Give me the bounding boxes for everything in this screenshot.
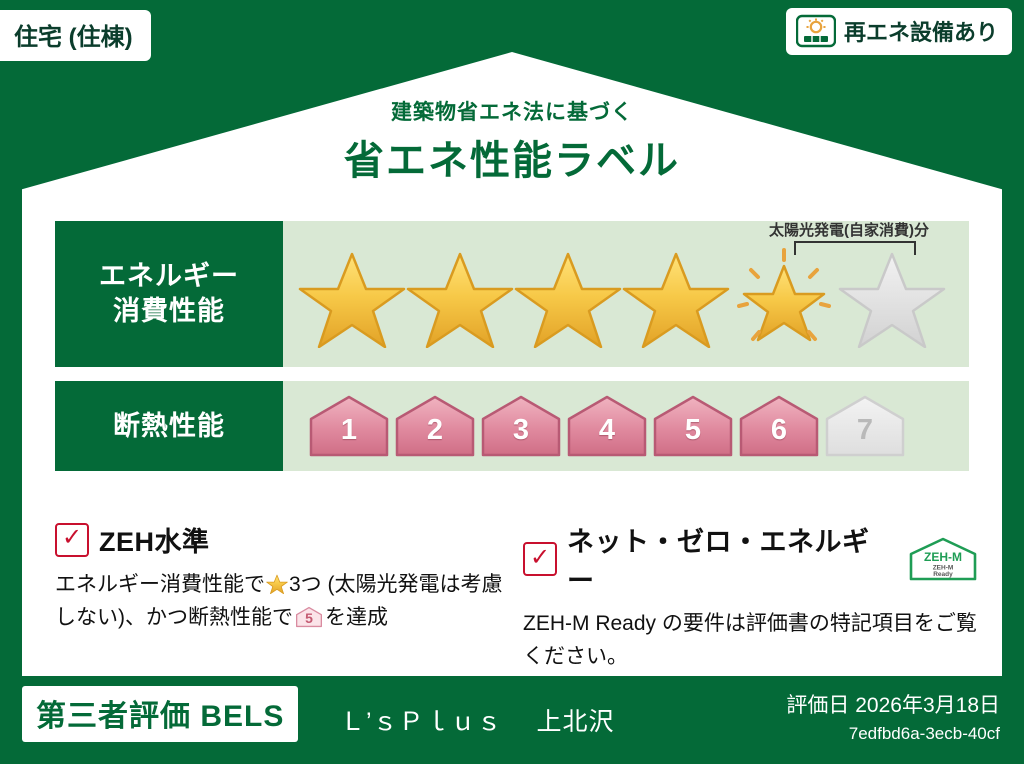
house-type-label: 住宅 (住棟) — [14, 24, 133, 51]
solar-note-label: 太陽光発電(自家消費)分 — [769, 219, 929, 240]
renewable-badge: 再エネ設備あり — [786, 8, 1012, 55]
insulation-level-2-value: 2 — [395, 395, 475, 457]
net-zero-energy-section: ✓ ネット・ゼロ・エネルギー ZEH-M ZEH-M Ready ZEH-M R… — [523, 520, 978, 673]
energy-label-line2: 消費性能 — [99, 294, 239, 329]
project-name: Ｌ’ｓＰｌｕｓ — [340, 708, 503, 736]
energy-label-line1: エネルギー — [99, 259, 239, 294]
zeh-level-section: ✓ ZEH水準 エネルギー消費性能で3つ (太陽光発電は考慮しない)、かつ断熱性… — [55, 520, 505, 634]
star-icon-2 — [405, 244, 515, 348]
renewable-label: 再エネ設備あり — [844, 15, 998, 47]
insulation-level-6: 6 — [739, 395, 819, 457]
star-icon-4 — [621, 244, 731, 348]
insulation-level-3: 3 — [481, 395, 561, 457]
solar-panel-icon — [796, 14, 836, 48]
inline-star-icon — [266, 573, 288, 594]
inline-house-value: 5 — [296, 606, 322, 628]
zeh-m-ready-logo-icon: ZEH-M ZEH-M Ready — [908, 537, 978, 581]
zeh-level-title: ZEH水準 — [99, 520, 210, 559]
insulation-label-cell: 断熱性能 — [55, 381, 283, 471]
zeh-text-part3: を達成 — [325, 606, 388, 629]
insulation-level-5-value: 5 — [653, 395, 733, 457]
star-icon-5-solar — [729, 244, 839, 348]
insulation-level-4-value: 4 — [567, 395, 647, 457]
project-location: 上北沢 — [537, 708, 615, 736]
label-subtitle: 建築物省エネ法に基づく — [0, 96, 1024, 126]
zeh-text-part1: エネルギー消費性能で — [55, 573, 265, 596]
insulation-level-1: 1 — [309, 395, 389, 457]
check-icon: ✓ — [62, 526, 82, 550]
bels-badge: 第三者評価 BELS — [22, 686, 298, 742]
insulation-level-3-value: 3 — [481, 395, 561, 457]
insulation-level-7: 7 — [825, 395, 905, 457]
insulation-body: 1 2 3 4 — [283, 381, 969, 471]
star-icon-3 — [513, 244, 623, 348]
energy-performance-row: エネルギー 消費性能 太陽光発電(自家消費)分 — [55, 221, 969, 367]
evaluation-uid: 7edfbd6a-3ecb-40cf — [849, 724, 1000, 744]
check-icon: ✓ — [530, 546, 550, 570]
energy-performance-body: 太陽光発電(自家消費)分 — [283, 221, 969, 367]
label-title: 省エネ性能ラベル — [0, 128, 1024, 186]
svg-text:ZEH-M: ZEH-M — [924, 550, 962, 564]
project-info: Ｌ’ｓＰｌｕｓ 上北沢 — [340, 702, 615, 738]
energy-performance-label: 住宅 (住棟) 再エネ設備あり 建築物省エネ法に基づく 省エネ性能ラベル エネル… — [0, 0, 1024, 764]
star-icon-1 — [297, 244, 407, 348]
insulation-level-1-value: 1 — [309, 395, 389, 457]
net-zero-head: ✓ ネット・ゼロ・エネルギー ZEH-M ZEH-M Ready — [523, 520, 978, 598]
zeh-level-text: エネルギー消費性能で3つ (太陽光発電は考慮しない)、かつ断熱性能で5を達成 — [55, 569, 505, 634]
svg-text:Ready: Ready — [933, 571, 953, 578]
house-type-badge: 住宅 (住棟) — [0, 10, 151, 61]
insulation-levels: 1 2 3 4 — [309, 395, 905, 457]
insulation-level-4: 4 — [567, 395, 647, 457]
star-rating — [297, 246, 959, 346]
footer: 第三者評価 BELS Ｌ’ｓＰｌｕｓ 上北沢 評価日 2026年3月18日 7e… — [0, 684, 1024, 764]
insulation-performance-row: 断熱性能 1 2 — [55, 381, 969, 471]
star-icon-6-empty — [837, 244, 947, 348]
insulation-level-6-value: 6 — [739, 395, 819, 457]
insulation-level-2: 2 — [395, 395, 475, 457]
inline-house-icon: 5 — [296, 606, 322, 628]
insulation-level-5: 5 — [653, 395, 733, 457]
net-zero-text: ZEH-M Ready の要件は評価書の特記項目をご覧ください。 — [523, 608, 978, 673]
insulation-label: 断熱性能 — [113, 409, 225, 444]
net-zero-title: ネット・ゼロ・エネルギー — [567, 520, 892, 598]
zeh-level-head: ✓ ZEH水準 — [55, 520, 505, 559]
evaluation-date: 評価日 2026年3月18日 — [786, 689, 1000, 719]
zeh-level-checkbox: ✓ — [55, 523, 89, 557]
insulation-level-7-value: 7 — [825, 395, 905, 457]
net-zero-checkbox: ✓ — [523, 542, 557, 576]
energy-performance-label-cell: エネルギー 消費性能 — [55, 221, 283, 367]
